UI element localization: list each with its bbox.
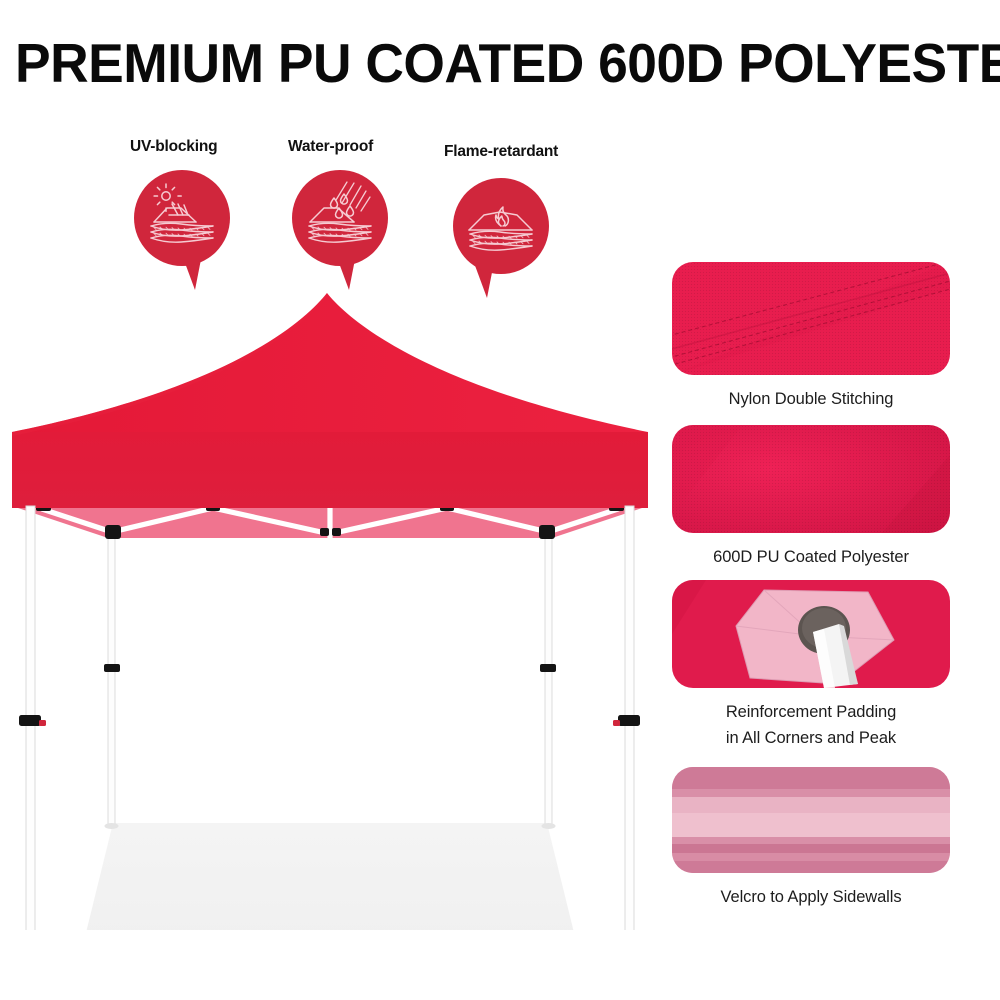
feature-badge-water-proof[interactable] (292, 170, 388, 266)
feature-badge-uv-blocking[interactable] (134, 170, 230, 266)
detail-caption: Velcro to Apply Sidewalls (672, 884, 950, 910)
detail-image (672, 767, 950, 873)
detail-image (672, 580, 950, 688)
ground-shadow (30, 823, 630, 930)
detail-panel-reinforcement[interactable]: Reinforcement Padding in All Corners and… (672, 580, 950, 751)
detail-caption: Reinforcement Padding in All Corners and… (672, 699, 950, 751)
detail-panel-velcro[interactable]: Velcro to Apply Sidewalls (672, 767, 950, 910)
infographic-canvas: PREMIUM PU COATED 600D POLYESTER UV-bloc… (0, 0, 1000, 1000)
uv-sun-fabric-icon (134, 170, 230, 266)
flame-fabric-icon (453, 178, 549, 274)
detail-caption: 600D PU Coated Polyester (672, 544, 950, 570)
feature-label-flame-retardant: Flame-retardant (444, 143, 558, 161)
detail-image (672, 262, 950, 375)
canopy-tent-illustration (0, 270, 660, 930)
page-title: PREMIUM PU COATED 600D POLYESTER (15, 34, 985, 92)
feature-label-water-proof: Water-proof (288, 138, 373, 156)
feature-label-uv-blocking: UV-blocking (130, 138, 217, 156)
feature-badge-flame-retardant[interactable] (453, 178, 549, 274)
detail-panel-fabric[interactable]: 600D PU Coated Polyester (672, 425, 950, 570)
rain-droplets-fabric-icon (292, 170, 388, 266)
tent-back-legs (105, 506, 556, 829)
detail-image (672, 425, 950, 533)
detail-panel-stitching[interactable]: Nylon Double Stitching (672, 262, 950, 412)
fabric-texture (672, 262, 950, 375)
canopy-valance (12, 432, 648, 508)
fabric-texture (672, 425, 950, 533)
detail-caption: Nylon Double Stitching (672, 386, 950, 412)
